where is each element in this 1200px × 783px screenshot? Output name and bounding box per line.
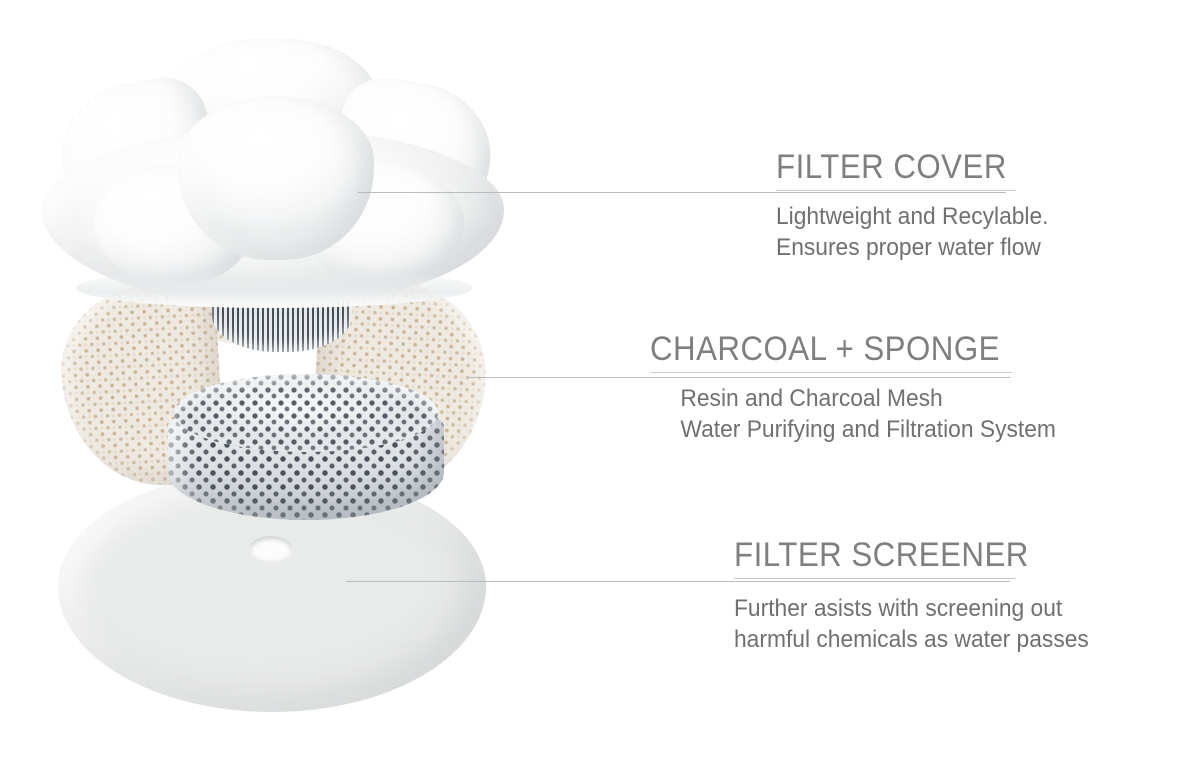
callout-body-filter-cover: Lightweight and Recylable. Ensures prope… <box>776 201 1004 264</box>
charcoal-mesh-top <box>174 374 438 452</box>
callout-body-line: Lightweight and Recylable. <box>776 201 1004 233</box>
charcoal-mesh-puck <box>168 374 444 526</box>
callout-body-filter-screener: Further asists with screening out harmfu… <box>734 593 1002 656</box>
callout-filter-cover: FILTER COVER Lightweight and Recylable. … <box>776 150 1016 264</box>
callout-heading-filter-cover: FILTER COVER <box>776 150 997 186</box>
callout-rule-charcoal-sponge <box>650 372 1012 373</box>
callout-rule-filter-cover <box>776 190 1016 191</box>
callout-heading-charcoal-sponge: CHARCOAL + SPONGE <box>650 332 983 368</box>
callout-rule-filter-screener <box>734 578 1016 579</box>
callout-body-line: Resin and Charcoal Mesh <box>680 383 994 415</box>
cover-center-boss <box>178 96 374 260</box>
callout-charcoal-sponge: CHARCOAL + SPONGE Resin and Charcoal Mes… <box>650 332 1012 446</box>
callout-body-line: Ensures proper water flow <box>776 232 1004 264</box>
callout-body-line: Water Purifying and Filtration System <box>680 414 994 446</box>
product-artwork <box>0 0 600 783</box>
callout-filter-screener: FILTER SCREENER Further asists with scre… <box>734 538 1016 656</box>
charcoal-sponge-part <box>60 282 485 532</box>
callout-body-line: harmful chemicals as water passes <box>734 624 1002 656</box>
callout-body-charcoal-sponge: Resin and Charcoal Mesh Water Purifying … <box>650 383 994 446</box>
filter-cover-part <box>42 36 504 308</box>
callout-body-line: Further asists with screening out <box>734 593 1002 625</box>
cover-under-edge <box>76 268 472 308</box>
callout-heading-filter-screener: FILTER SCREENER <box>734 538 993 574</box>
exploded-diagram: FILTER COVER Lightweight and Recylable. … <box>0 0 1200 783</box>
screener-hole <box>250 536 292 560</box>
